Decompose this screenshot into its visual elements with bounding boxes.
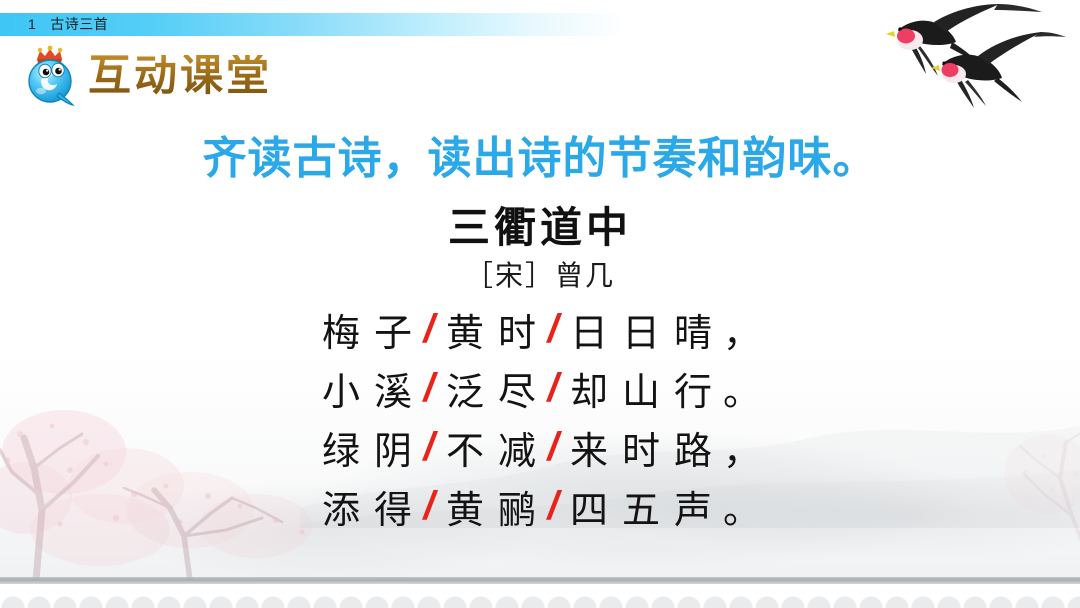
poem-character: 阴 [367,420,419,475]
poem-character: 小 [315,361,367,416]
poem-punctuation: 。 [719,479,765,534]
poem-character: 绿 [315,420,367,475]
poem-author: ［宋］曾几 [0,254,1080,294]
pause-slash-mark: / [543,307,563,352]
poem-line: 小溪/泛尽/却山行。 [0,359,1080,418]
poem-character: 行 [667,361,719,416]
poem-character: 添 [315,479,367,534]
pause-slash-mark: / [543,484,563,529]
poem-character: 五 [615,479,667,534]
pause-slash-mark: / [543,366,563,411]
poem-character: 不 [439,420,491,475]
poem-line: 添得/黄鹂/四五声。 [0,477,1080,536]
instruction-text: 齐读古诗，读出诗的节奏和韵味。 [0,122,1080,186]
q-mascot-icon [20,45,82,107]
poem-character: 子 [367,302,419,357]
lesson-header-bar [0,13,1080,36]
pause-slash-mark: / [419,307,439,352]
poem-character: 泛 [439,361,491,416]
poem-character: 晴 [667,302,719,357]
pause-slash-mark: / [419,484,439,529]
poem-character: 时 [491,302,543,357]
poem-title: 三衢道中 [0,194,1080,255]
poem-body: 梅子/黄时/日日晴，小溪/泛尽/却山行。绿阴/不减/来时路，添得/黄鹂/四五声。 [0,300,1080,536]
poem-character: 路 [667,420,719,475]
poem-character: 日 [563,302,615,357]
brand-lockup: 互动课堂 [20,44,272,108]
poem-character: 声 [667,479,719,534]
pause-slash-mark: / [543,425,563,470]
pause-slash-mark: / [419,425,439,470]
lesson-number: 1 [28,16,36,32]
poem-line: 梅子/黄时/日日晴， [0,300,1080,359]
poem-character: 减 [491,420,543,475]
poem-character: 日 [615,302,667,357]
poem-character: 时 [615,420,667,475]
poem-punctuation: ， [719,420,765,475]
lesson-title: 古诗三首 [50,16,108,32]
poem-character: 梅 [315,302,367,357]
poem-punctuation: 。 [719,361,765,416]
poem-character: 山 [615,361,667,416]
poem-character: 黄 [439,302,491,357]
poem-character: 尽 [491,361,543,416]
poem-character: 四 [563,479,615,534]
poem-character: 黄 [439,479,491,534]
poem-punctuation: ， [719,302,765,357]
poem-line: 绿阴/不减/来时路， [0,418,1080,477]
poem-character: 鹂 [491,479,543,534]
slide-canvas: 1古诗三首 [0,0,1080,608]
poem-character: 却 [563,361,615,416]
poem-character: 溪 [367,361,419,416]
breadcrumb: 1古诗三首 [28,13,108,36]
pause-slash-mark: / [419,366,439,411]
poem-character: 得 [367,479,419,534]
brand-title: 互动课堂 [88,55,272,98]
poem-character: 来 [563,420,615,475]
bottom-scallop-border [0,582,1080,608]
